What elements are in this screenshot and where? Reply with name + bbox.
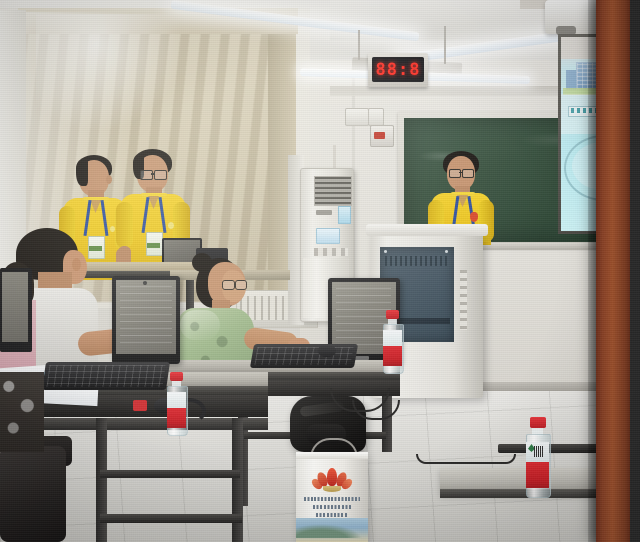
hair-side — [76, 160, 88, 186]
bottle-cap — [530, 417, 546, 428]
monitor-screen-content — [120, 286, 172, 348]
light-hanger-rod — [444, 26, 446, 64]
bag-text-line — [316, 513, 348, 517]
panel-indicator-light — [374, 132, 385, 139]
lectern-side-vent — [460, 270, 467, 330]
eyeglasses-lens-left — [140, 170, 153, 180]
eyeglasses-lens-left — [449, 169, 461, 178]
bottle-label — [383, 346, 402, 366]
desk-ledge-edge — [440, 489, 610, 498]
air-conditioner-control-panel[interactable] — [314, 248, 348, 256]
webcam-icon — [143, 281, 147, 285]
wall-switch[interactable] — [368, 108, 384, 126]
bag-text-line — [313, 505, 351, 509]
bottle-cap — [386, 310, 399, 319]
keyboard-keys[interactable] — [46, 365, 165, 387]
keyboard-keys[interactable] — [254, 347, 353, 365]
bag-artwork-hill — [296, 522, 368, 538]
red-object — [133, 400, 147, 411]
shopping-bag-top — [296, 452, 368, 459]
air-conditioner-logo — [316, 210, 332, 215]
shirt-logo — [110, 226, 115, 232]
bottle-label-upper — [383, 330, 402, 346]
eyeglasses-bridge — [151, 173, 154, 175]
sleeve-left — [116, 202, 133, 248]
lectern-screw — [384, 250, 387, 253]
wall-switch[interactable] — [345, 108, 369, 126]
classroom-photo: 88:8 — [0, 0, 640, 542]
ear — [72, 258, 81, 271]
desk-rail — [100, 514, 242, 523]
lectern-screw — [445, 250, 448, 253]
door-frame — [596, 0, 632, 542]
logo-base — [323, 486, 341, 492]
logo-petal-center — [327, 468, 337, 486]
eyeglasses-lens-left — [222, 280, 235, 290]
cable — [416, 454, 516, 464]
eyeglasses-lens-right — [154, 170, 167, 180]
door-dark-edge — [630, 0, 640, 542]
clock-digits: 88:8 — [376, 60, 421, 80]
shoulder-highlight — [180, 310, 220, 340]
id-badge-stripe — [89, 246, 102, 251]
light-hanger-rod — [358, 30, 360, 60]
bottle-label — [526, 462, 549, 488]
ear — [106, 175, 112, 184]
shirt-logo — [470, 212, 478, 222]
air-conditioner-grille — [314, 176, 352, 206]
bottle-barcode — [534, 446, 543, 457]
lectern-vent-slots — [385, 256, 447, 266]
patterned-bag — [0, 372, 44, 452]
mouse[interactable] — [318, 344, 336, 357]
shirt-logo — [168, 222, 174, 229]
desk-leg — [96, 418, 107, 542]
bag-text-line — [304, 497, 360, 501]
bottle-label-upper — [167, 392, 186, 408]
desk-rail — [100, 470, 240, 478]
eyeglasses-lens-right — [235, 280, 247, 290]
desk-leg — [232, 418, 243, 542]
wall-clock-display: 88:8 — [372, 57, 424, 82]
air-conditioner-energy-sticker — [316, 228, 340, 244]
eyeglasses-lens-right — [462, 169, 474, 178]
lectern-top — [366, 224, 488, 236]
air-conditioner-label — [338, 206, 351, 224]
id-badge-stripe — [147, 243, 160, 248]
monitor-screen[interactable] — [2, 272, 28, 342]
bottle-cap — [170, 372, 183, 381]
bottle-label — [167, 408, 186, 428]
eyeglasses-bridge — [459, 172, 462, 173]
chair — [0, 446, 66, 542]
